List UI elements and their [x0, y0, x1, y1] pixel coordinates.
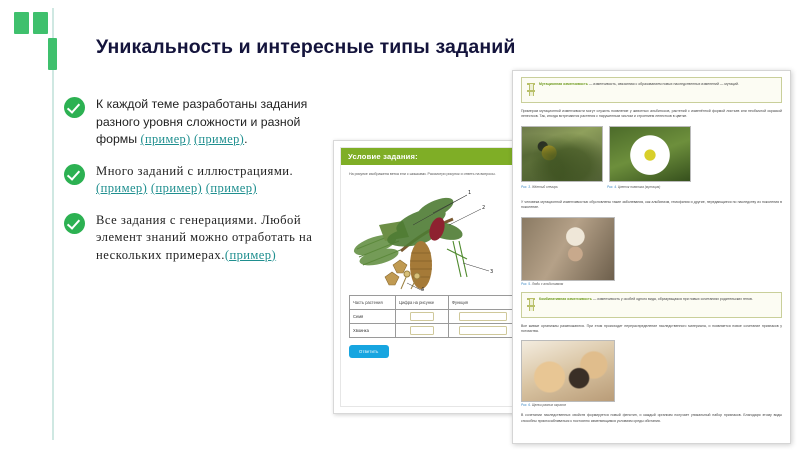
example-link[interactable]: (пример) [141, 132, 191, 146]
submit-button[interactable]: Ответить [349, 345, 389, 358]
accent-bar [48, 38, 57, 70]
photo-row [521, 126, 782, 182]
bullet-body: Все задания с генерациями. Любой элемент… [96, 213, 312, 262]
bullet-list: К каждой теме разработаны задания разног… [64, 96, 332, 278]
daisy-photo [609, 126, 691, 182]
figure-number: Рис. 3. [521, 185, 531, 189]
number-input[interactable] [410, 312, 434, 321]
figure-caption-text: Люди с альбинизмом [531, 282, 563, 286]
caption-row: Рис. 3. Жёлтый снегирь Рис. 4. Цветок ни… [521, 184, 782, 195]
bullet-body: Много заданий с иллюстрациями. [96, 164, 293, 178]
definition-text: Мутационная изменчивость — изменчивость,… [539, 82, 739, 87]
book-right-page [33, 12, 48, 34]
figure-caption: Рис. 5. Люди с альбинизмом [521, 282, 782, 286]
paragraph-4: В сочетании наследственных свойств форми… [521, 413, 782, 424]
paragraph-2: У человека мутационной изменчивостью обу… [521, 200, 782, 211]
spruce-branch-illustration: 1 2 3 4 [341, 179, 526, 291]
callout-4: 4 [421, 287, 424, 291]
slide-canvas: Уникальность и интересные типы заданий К… [0, 0, 800, 450]
function-input[interactable] [459, 326, 507, 335]
figure-caption: Рис. 3. Жёлтый снегирь [521, 185, 601, 189]
definition-rest: — изменчивость, связанная с образованием… [588, 82, 739, 86]
table-row: Хвоинка [350, 324, 518, 338]
task-answer-table: Часть растения Цифра на рисунке Функция … [349, 295, 518, 338]
task-card-inner: Условие задания: На рисунке изображена в… [340, 147, 527, 407]
bullet-text: К каждой теме разработаны задания разног… [96, 96, 332, 149]
book-spine [29, 14, 33, 34]
puppies-photo [521, 340, 615, 402]
paragraph-3: Все живые организмы размножаются. При эт… [521, 324, 782, 335]
definition-term: Комбинативная изменчивость [539, 297, 592, 301]
figure-number: Рис. 5. [521, 282, 531, 286]
callout-1: 1 [468, 190, 471, 196]
bullet-text: Много заданий с иллюстрациями. (пример) … [96, 163, 332, 198]
callout-3: 3 [490, 269, 493, 275]
task-question-text: На рисунке изображена ветка ели с шишкам… [341, 165, 526, 179]
table-header-row: Часть растения Цифра на рисунке Функция [350, 296, 518, 310]
list-item: Много заданий с иллюстрациями. (пример) … [64, 163, 332, 198]
number-input[interactable] [410, 326, 434, 335]
example-link[interactable]: (пример) [194, 132, 244, 146]
book-icon [14, 12, 48, 34]
book-left-page [14, 12, 29, 34]
list-item: К каждой теме разработаны задания разног… [64, 96, 332, 149]
figure-number: Рис. 4. [607, 185, 617, 189]
bullet-text: Все задания с генерациями. Любой элемент… [96, 212, 332, 265]
function-cell [448, 324, 517, 338]
table-row: Семя [350, 310, 518, 324]
number-cell [396, 310, 449, 324]
column-header-part: Часть растения [350, 296, 396, 310]
theory-page-screenshot[interactable]: Мутационная изменчивость — изменчивость,… [512, 70, 791, 444]
albino-photo [521, 217, 615, 281]
bullet-tail: . [244, 132, 247, 146]
check-circle-icon [64, 164, 85, 185]
bird-photo [521, 126, 603, 182]
callout-2: 2 [482, 205, 485, 211]
figure-caption-text: Жёлтый снегирь [531, 185, 558, 189]
example-link[interactable]: (пример) [225, 248, 276, 262]
list-item: Все задания с генерациями. Любой элемент… [64, 212, 332, 265]
figure-caption: Рис. 4. Цветок нивяника (мутация) [607, 185, 687, 189]
figure-caption-text: Щенки разных окрасов [531, 403, 566, 407]
figure-caption-text: Цветок нивяника (мутация) [617, 185, 660, 189]
definition-term: Мутационная изменчивость [539, 82, 588, 86]
row-label-needle: Хвоинка [350, 324, 396, 338]
vertical-rule [52, 8, 54, 440]
paragraph-1: Примером мутационной изменчивости могут … [521, 109, 782, 120]
definition-rest: — изменчивость у особей одного вида, обр… [592, 297, 753, 301]
column-icon [527, 297, 535, 313]
function-cell [448, 310, 517, 324]
theory-page-content: Мутационная изменчивость — изменчивость,… [521, 77, 782, 439]
column-header-function: Функция [448, 296, 517, 310]
function-input[interactable] [459, 312, 507, 321]
column-header-number: Цифра на рисунке [396, 296, 449, 310]
example-link[interactable]: (пример) [206, 181, 257, 195]
example-link[interactable]: (пример) [151, 181, 202, 195]
row-label-seed: Семя [350, 310, 396, 324]
task-card-screenshot[interactable]: Условие задания: На рисунке изображена в… [333, 140, 534, 414]
example-link[interactable]: (пример) [96, 181, 147, 195]
definition-box-combinative: Комбинативная изменчивость — изменчивост… [521, 292, 782, 318]
check-circle-icon [64, 213, 85, 234]
check-circle-icon [64, 97, 85, 118]
page-title: Уникальность и интересные типы заданий [96, 36, 515, 59]
task-card-header: Условие задания: [341, 148, 526, 165]
figure-caption: Рис. 6. Щенки разных окрасов [521, 403, 782, 407]
column-icon [527, 82, 535, 98]
definition-text: Комбинативная изменчивость — изменчивост… [539, 297, 753, 302]
figure-number: Рис. 6. [521, 403, 531, 407]
number-cell [396, 324, 449, 338]
definition-box-mutation: Мутационная изменчивость — изменчивость,… [521, 77, 782, 103]
